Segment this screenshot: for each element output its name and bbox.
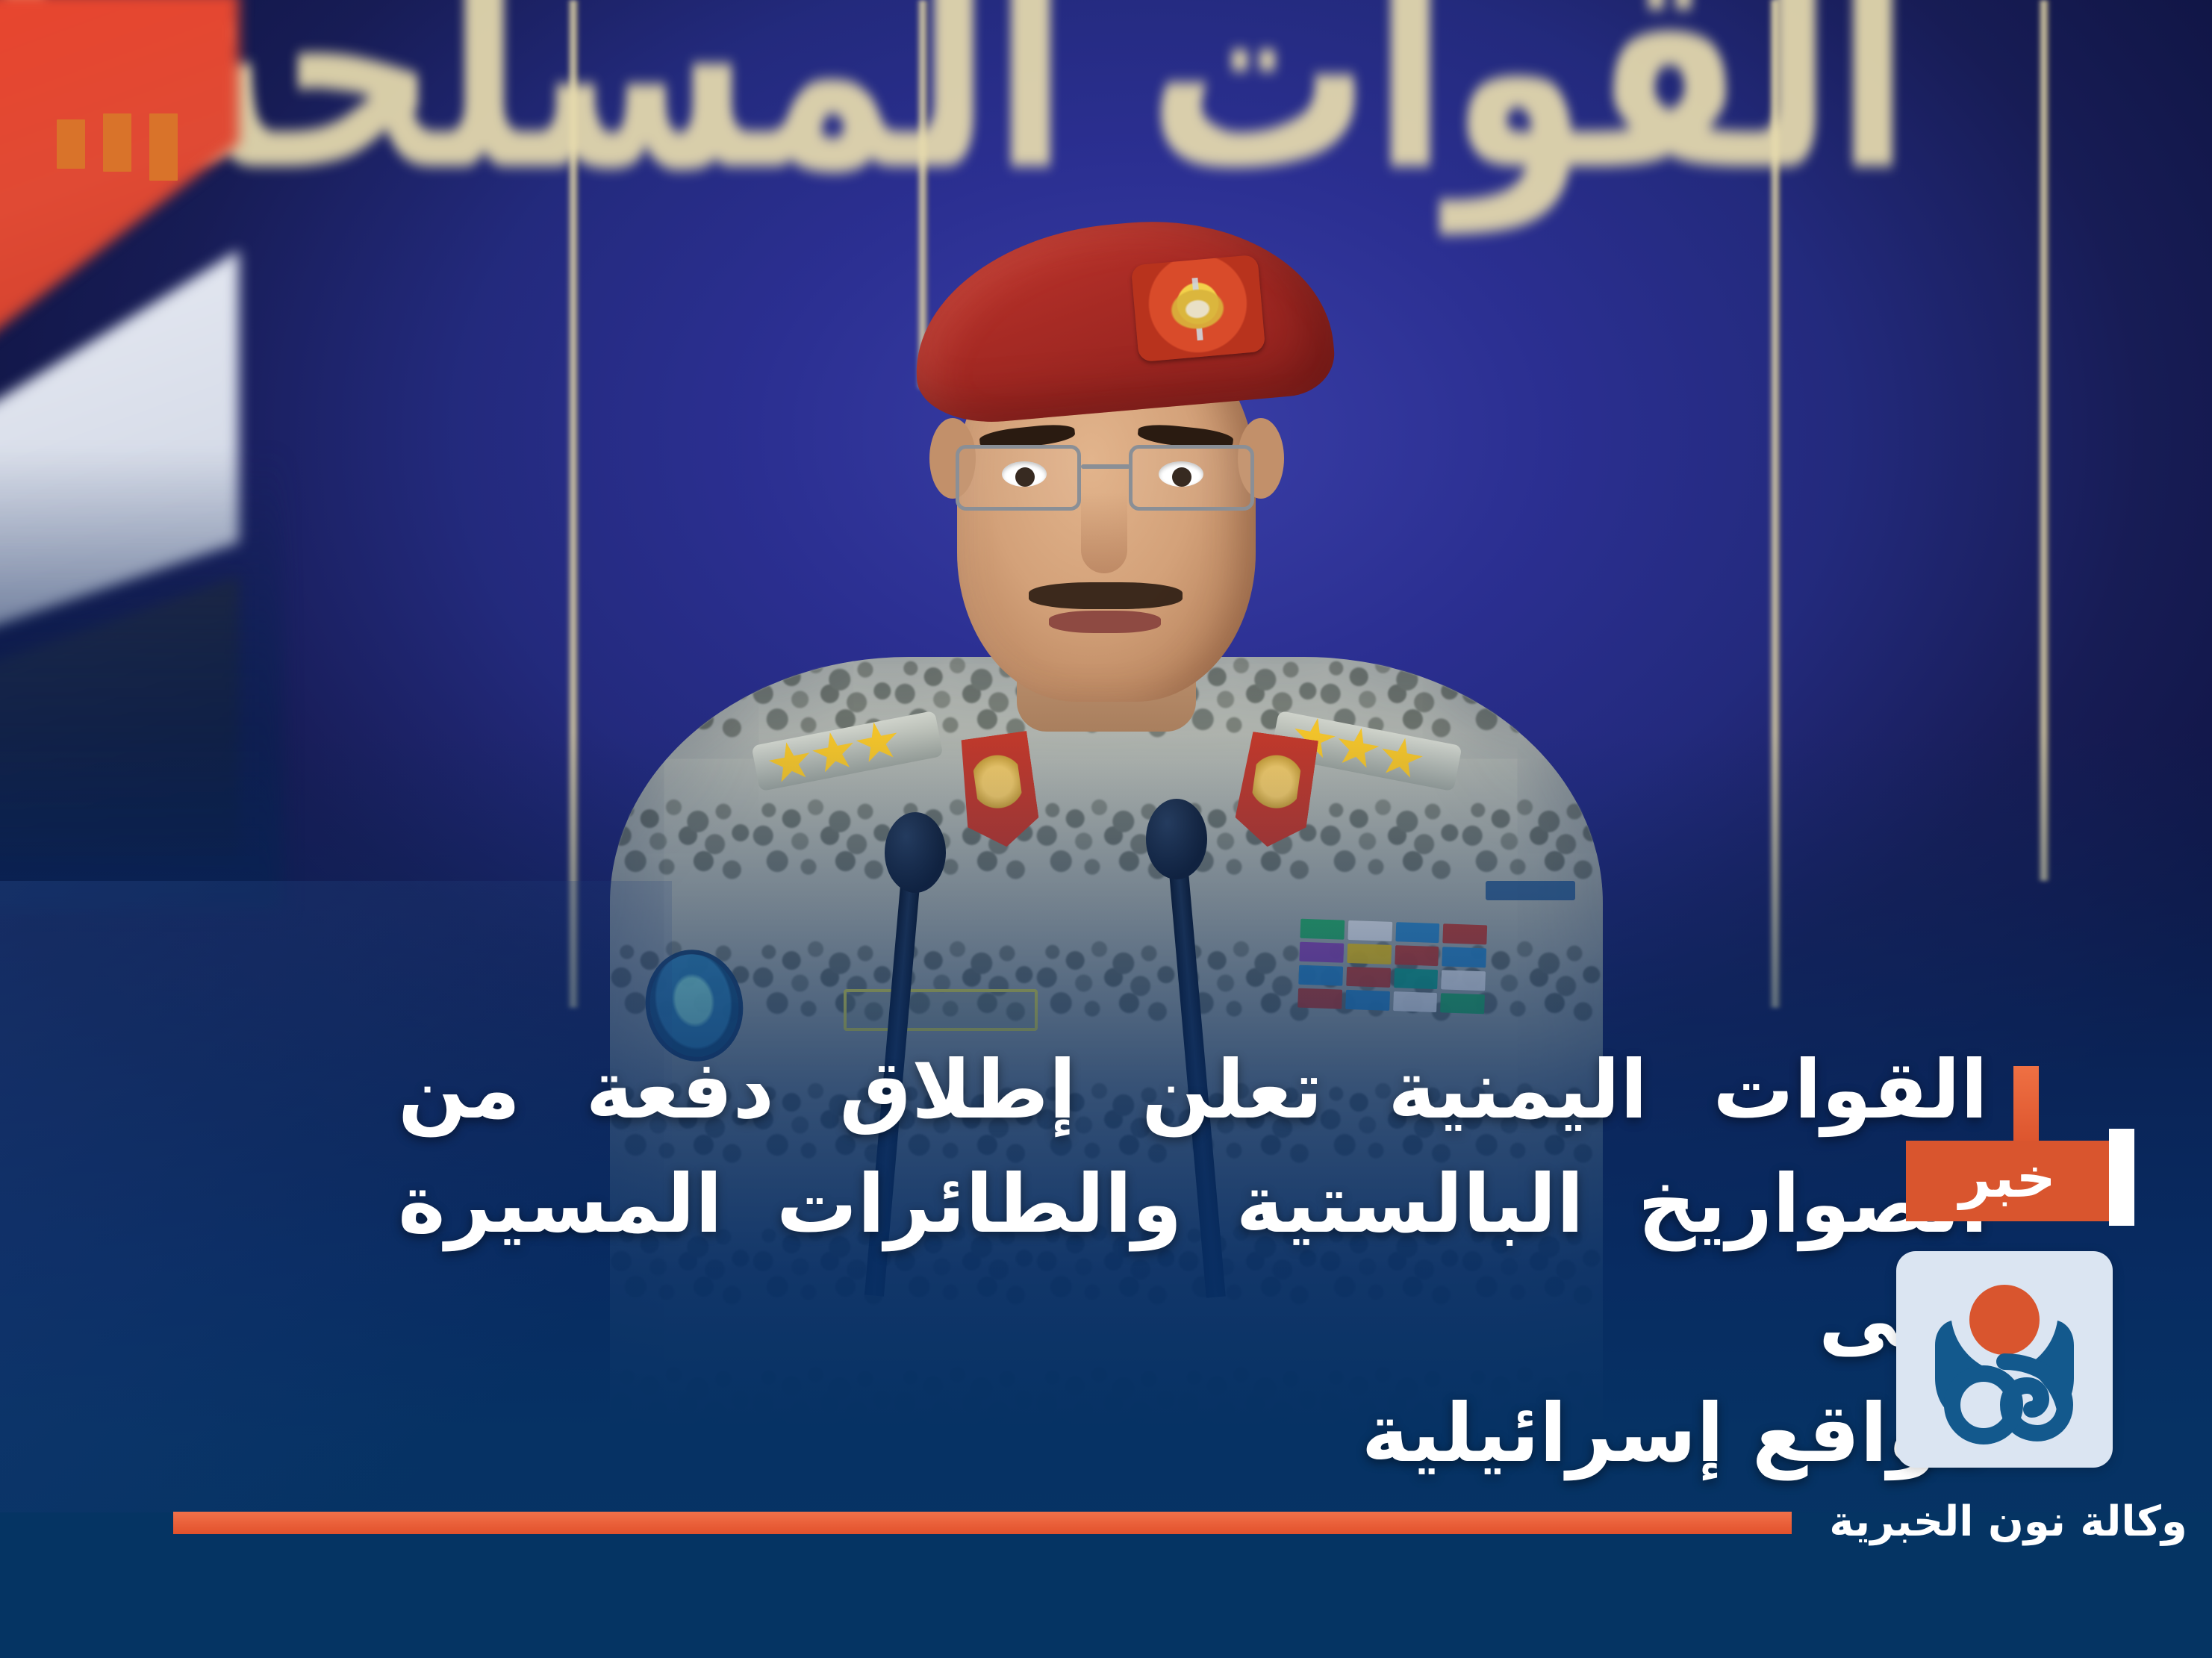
corner-bar: [57, 119, 85, 169]
headline-line-3: مواقع إسرائيلية: [398, 1377, 1988, 1491]
corner-bar: [149, 113, 178, 181]
news-card: القوات المسلحة اليمنية: [0, 0, 2212, 1658]
news-badge-label: خبر: [1959, 1150, 2056, 1206]
agency-logo: [1896, 1251, 2113, 1468]
corner-bars-decoration: [57, 113, 178, 181]
corner-bar: [103, 113, 131, 172]
mouth: [1049, 611, 1161, 633]
news-badge-accent-bar: [2109, 1129, 2134, 1226]
news-badge: خبر: [1906, 1141, 2109, 1221]
agency-name: وكالة نون الخبرية: [1814, 1498, 2202, 1546]
orange-underline: [173, 1512, 1792, 1534]
beret-emblem-icon: [1131, 255, 1266, 362]
mustache: [1029, 582, 1183, 609]
headline-line-1: القوات اليمنية تعلن إطلاق دفعة من: [398, 1033, 1988, 1147]
red-beret: [905, 206, 1338, 428]
headline: القوات اليمنية تعلن إطلاق دفعة من الصوار…: [398, 1033, 1988, 1491]
nose: [1081, 493, 1127, 573]
headline-line-2: الصواريخ البالستية والطائرات المسيرة على: [398, 1147, 1988, 1377]
